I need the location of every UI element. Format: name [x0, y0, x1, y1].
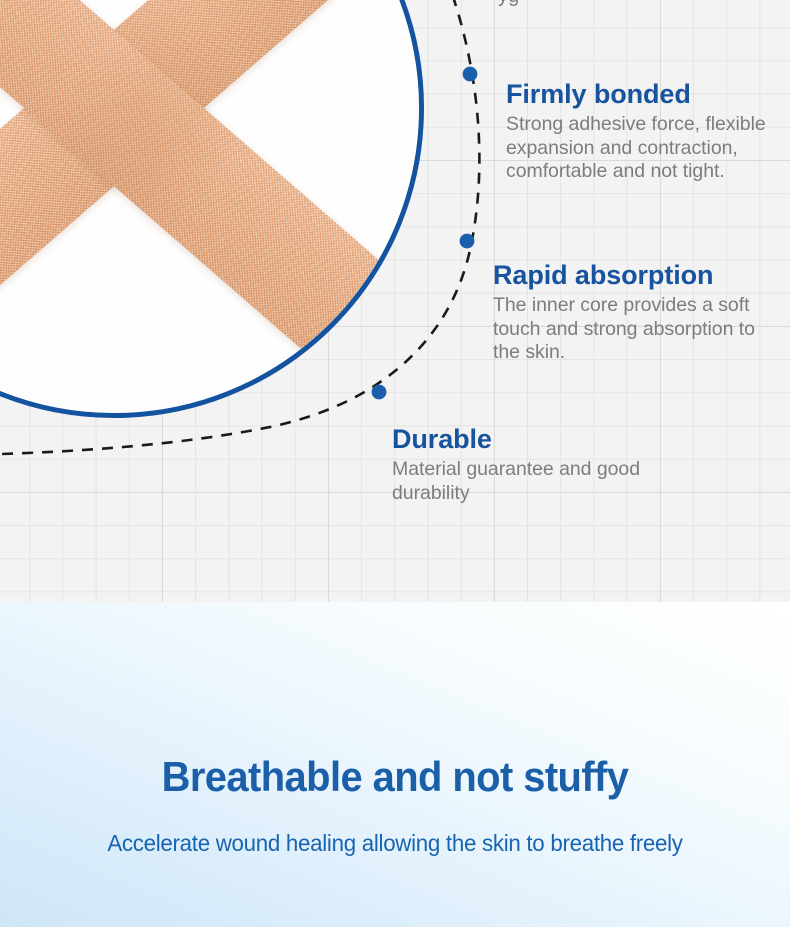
feature-block-firmly-bonded: Firmly bonded Strong adhesive force, fle… — [506, 78, 776, 184]
product-photo-crossed-bandages — [0, 0, 419, 413]
banner-headline: Breathable and not stuffy — [20, 602, 771, 802]
feature-block-rapid-absorption: Rapid absorption The inner core provides… — [493, 259, 755, 365]
feature-title-rapid-absorption: Rapid absorption — [493, 259, 755, 291]
product-feature-infographic: yg Firmly bonded Strong adhesive force, … — [0, 0, 790, 927]
clipped-text-fragment: yg — [498, 0, 519, 7]
feature-block-durable: Durable Material guarantee and good dura… — [392, 423, 712, 505]
feature-description-firmly-bonded: Strong adhesive force, flexible expansio… — [506, 113, 776, 184]
banner-content: Breathable and not stuffy Accelerate wou… — [0, 602, 790, 858]
feature-title-firmly-bonded: Firmly bonded — [506, 78, 776, 110]
breathable-banner-section: Breathable and not stuffy Accelerate wou… — [0, 602, 790, 927]
feature-description-durable: Material guarantee and good durability — [392, 458, 712, 505]
feature-title-durable: Durable — [392, 423, 712, 455]
features-section: yg Firmly bonded Strong adhesive force, … — [0, 0, 790, 602]
feature-description-rapid-absorption: The inner core provides a soft touch and… — [493, 294, 755, 365]
banner-subheadline: Accelerate wound healing allowing the sk… — [12, 802, 778, 858]
